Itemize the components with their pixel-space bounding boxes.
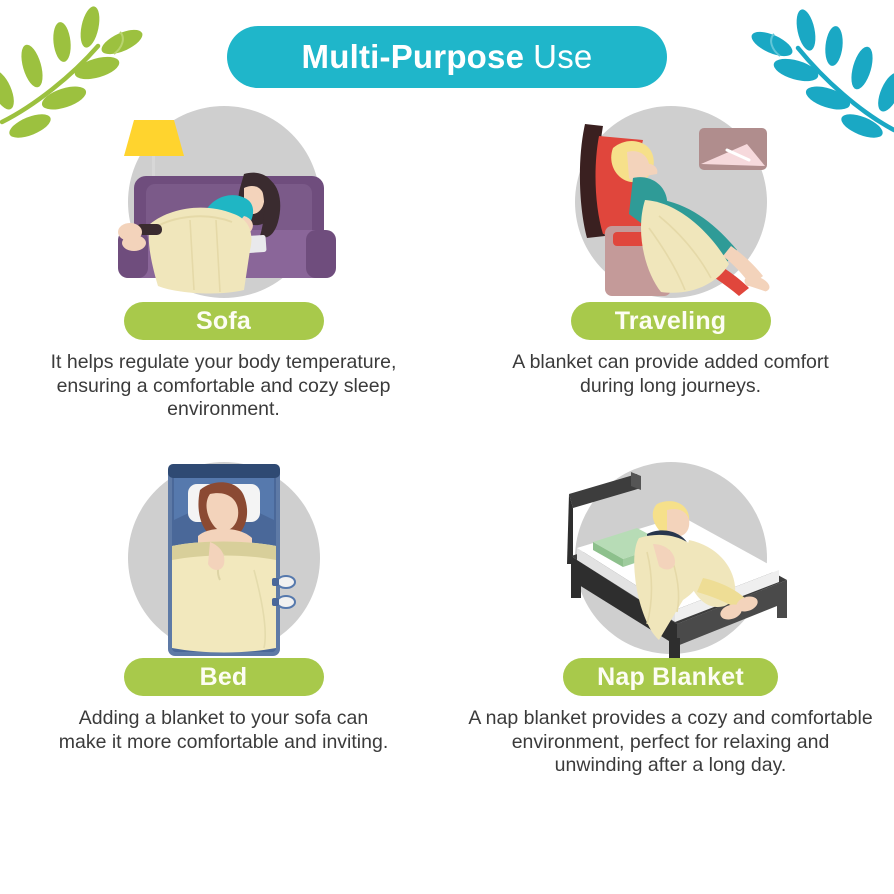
- feature-card-traveling: Traveling A blanket can provide added co…: [447, 104, 894, 460]
- card-description-nap-blanket: A nap blanket provides a cozy and comfor…: [466, 707, 876, 778]
- page-title-bold: Multi-Purpose: [302, 38, 525, 76]
- sofa-illustration: [94, 104, 354, 304]
- traveling-illustration: [541, 104, 801, 304]
- bed-illustration: [94, 460, 354, 660]
- card-label-traveling: Traveling: [571, 302, 771, 340]
- page-title-pill: Multi-Purpose Use: [227, 26, 667, 88]
- card-description-sofa: It helps regulate your body temperature,…: [24, 351, 424, 422]
- multi-purpose-use-infographic: Multi-Purpose Use: [0, 0, 894, 894]
- feature-card-sofa: Sofa It helps regulate your body tempera…: [0, 104, 447, 460]
- feature-card-grid: Sofa It helps regulate your body tempera…: [0, 104, 894, 804]
- card-label-nap-blanket: Nap Blanket: [563, 658, 778, 696]
- page-title-light: Use: [533, 38, 592, 76]
- feature-card-nap-blanket: Nap Blanket A nap blanket provides a coz…: [447, 460, 894, 816]
- card-description-bed: Adding a blanket to your sofa can make i…: [59, 707, 389, 754]
- card-description-traveling: A blanket can provide added comfort duri…: [506, 351, 836, 398]
- feature-card-bed: Bed Adding a blanket to your sofa can ma…: [0, 460, 447, 816]
- card-label-sofa: Sofa: [124, 302, 324, 340]
- card-label-bed: Bed: [124, 658, 324, 696]
- nap-blanket-illustration: [541, 460, 801, 660]
